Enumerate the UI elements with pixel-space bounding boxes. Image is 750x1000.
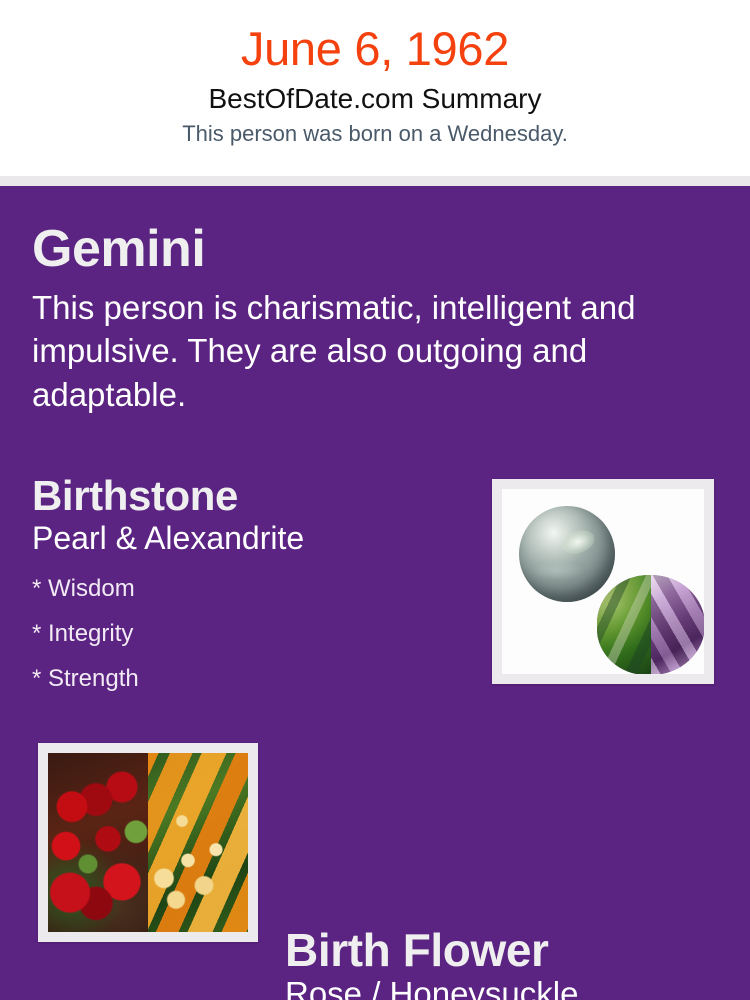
zodiac-sign-name: Gemini <box>32 222 712 277</box>
zodiac-description: This person is charismatic, intelligent … <box>32 286 704 418</box>
list-item: * Strength <box>32 656 472 701</box>
birthstone-trait-list: * Wisdom * Integrity * Strength <box>32 566 472 701</box>
alexandrite-rough-half <box>597 575 653 674</box>
birthstone-title: Birthstone <box>32 474 472 518</box>
zodiac-section: Gemini This person is charismatic, intel… <box>32 222 712 417</box>
red-roses-image <box>48 753 148 932</box>
alexandrite-gem-icon <box>597 575 704 674</box>
birth-flower-section: Birth Flower Rose / Honeysuckle * Romanc… <box>285 926 735 1000</box>
orange-honeysuckle-image <box>148 753 248 932</box>
birthstone-section: Birthstone Pearl & Alexandrite * Wisdom … <box>32 474 472 701</box>
summary-card: June 6, 1962 BestOfDate.com Summary This… <box>0 0 750 1000</box>
birth-flower-value: Rose / Honeysuckle <box>285 975 735 1000</box>
birthstone-photo <box>492 479 714 684</box>
birthstone-photo-inner <box>502 489 704 674</box>
page-title-date: June 6, 1962 <box>0 22 750 76</box>
birthstone-value: Pearl & Alexandrite <box>32 520 472 557</box>
site-name: BestOfDate.com Summary <box>0 82 750 116</box>
header-divider <box>0 176 750 186</box>
alexandrite-faceted-half <box>651 575 704 674</box>
birth-flower-photo-inner <box>48 753 248 932</box>
header-subtitle: This person was born on a Wednesday. <box>0 121 750 147</box>
header: June 6, 1962 BestOfDate.com Summary This… <box>0 0 750 176</box>
list-item: * Wisdom <box>32 566 472 611</box>
list-item: * Integrity <box>32 611 472 656</box>
birth-flower-title: Birth Flower <box>285 926 735 974</box>
birth-flower-photo <box>38 743 258 942</box>
